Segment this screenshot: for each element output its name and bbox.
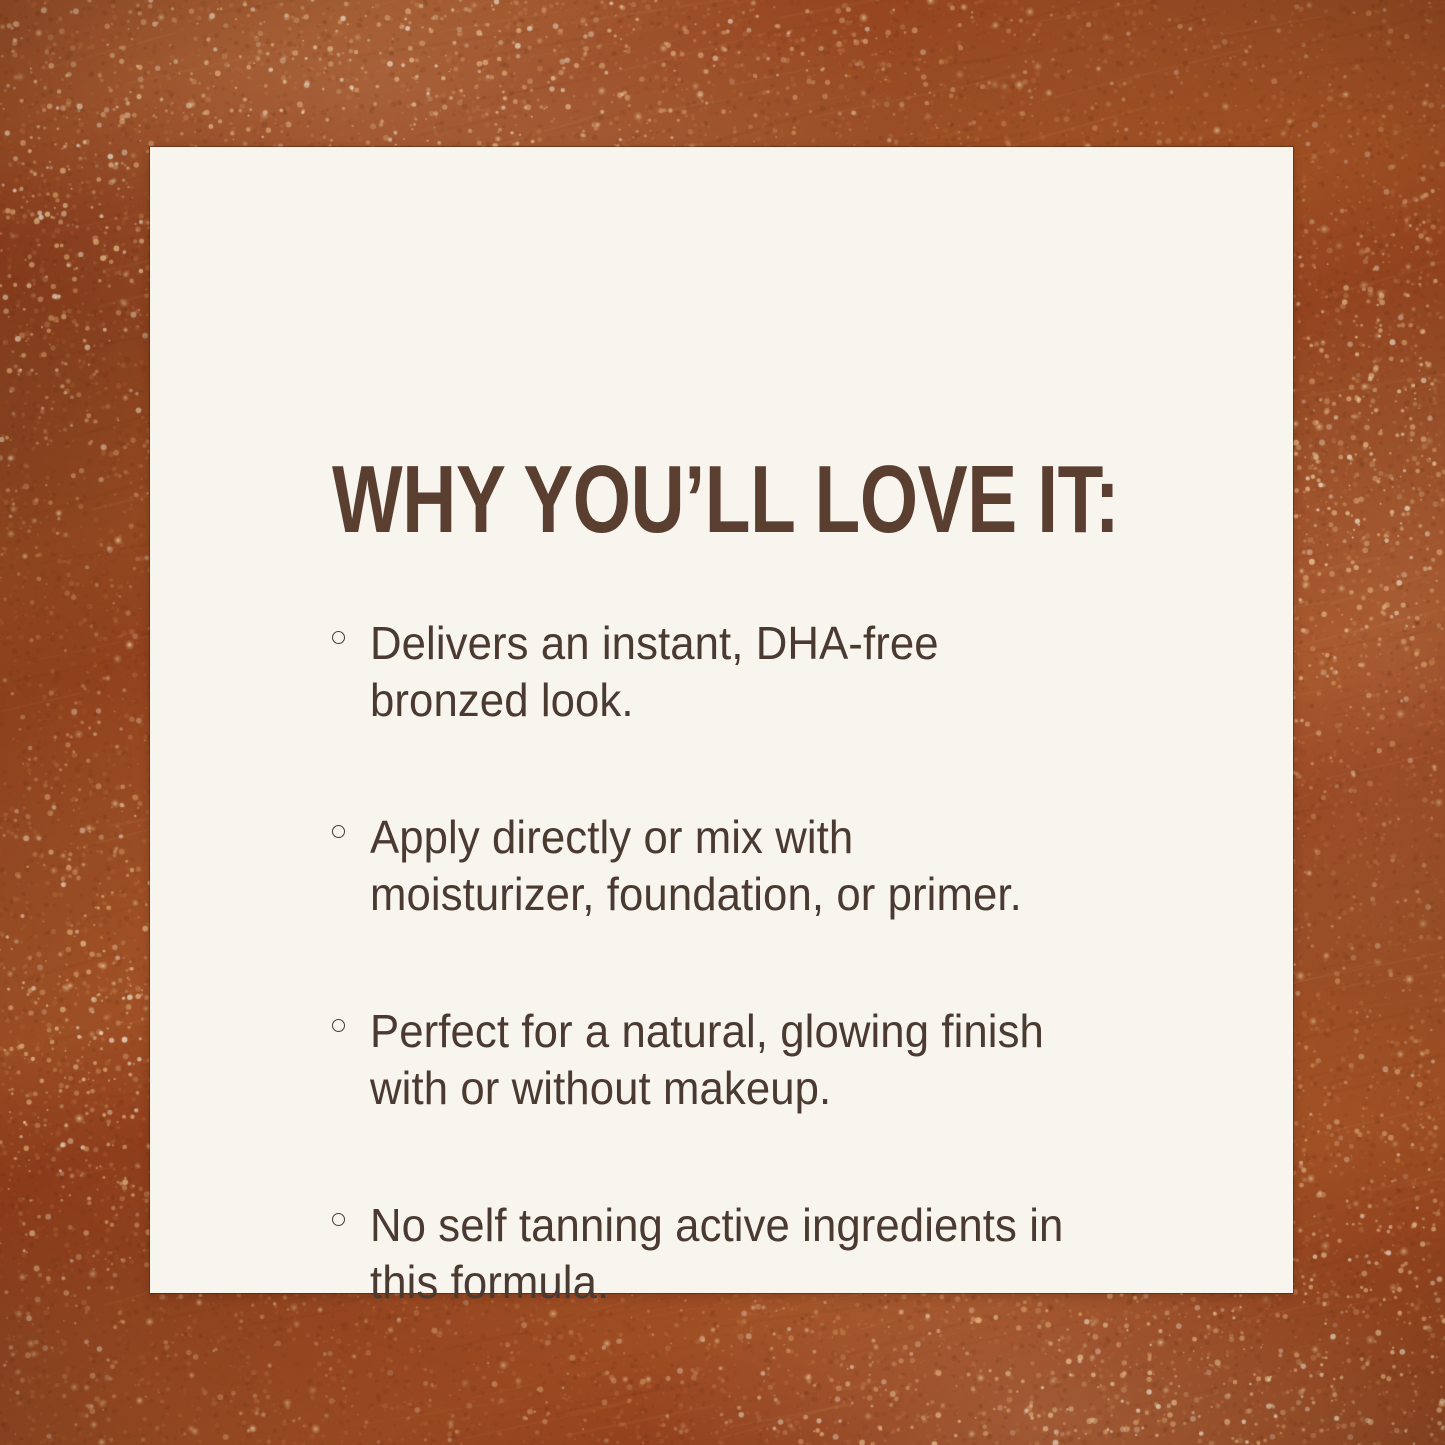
hollow-circle-icon — [332, 825, 345, 838]
benefits-list: Delivers an instant, DHA-free bronzed lo… — [332, 615, 1122, 1311]
page-title: WHY YOU’LL LOVE IT: — [332, 452, 1119, 548]
list-item: Perfect for a natural, glowing finish wi… — [332, 1003, 1122, 1117]
list-item-label: Apply directly or mix with moisturizer, … — [370, 809, 1084, 923]
list-item: Delivers an instant, DHA-free bronzed lo… — [332, 615, 1122, 729]
content-card: WHY YOU’LL LOVE IT: Delivers an instant,… — [150, 147, 1293, 1293]
list-item: Apply directly or mix with moisturizer, … — [332, 809, 1122, 923]
list-item-label: Perfect for a natural, glowing finish wi… — [370, 1003, 1084, 1117]
hollow-circle-icon — [332, 1213, 345, 1226]
list-item: No self tanning active ingredients in th… — [332, 1197, 1122, 1311]
list-item-label: Delivers an instant, DHA-free bronzed lo… — [370, 615, 1084, 729]
hollow-circle-icon — [332, 1019, 345, 1032]
list-item-label: No self tanning active ingredients in th… — [370, 1197, 1084, 1311]
promo-graphic: WHY YOU’LL LOVE IT: Delivers an instant,… — [0, 0, 1445, 1445]
hollow-circle-icon — [332, 631, 345, 644]
